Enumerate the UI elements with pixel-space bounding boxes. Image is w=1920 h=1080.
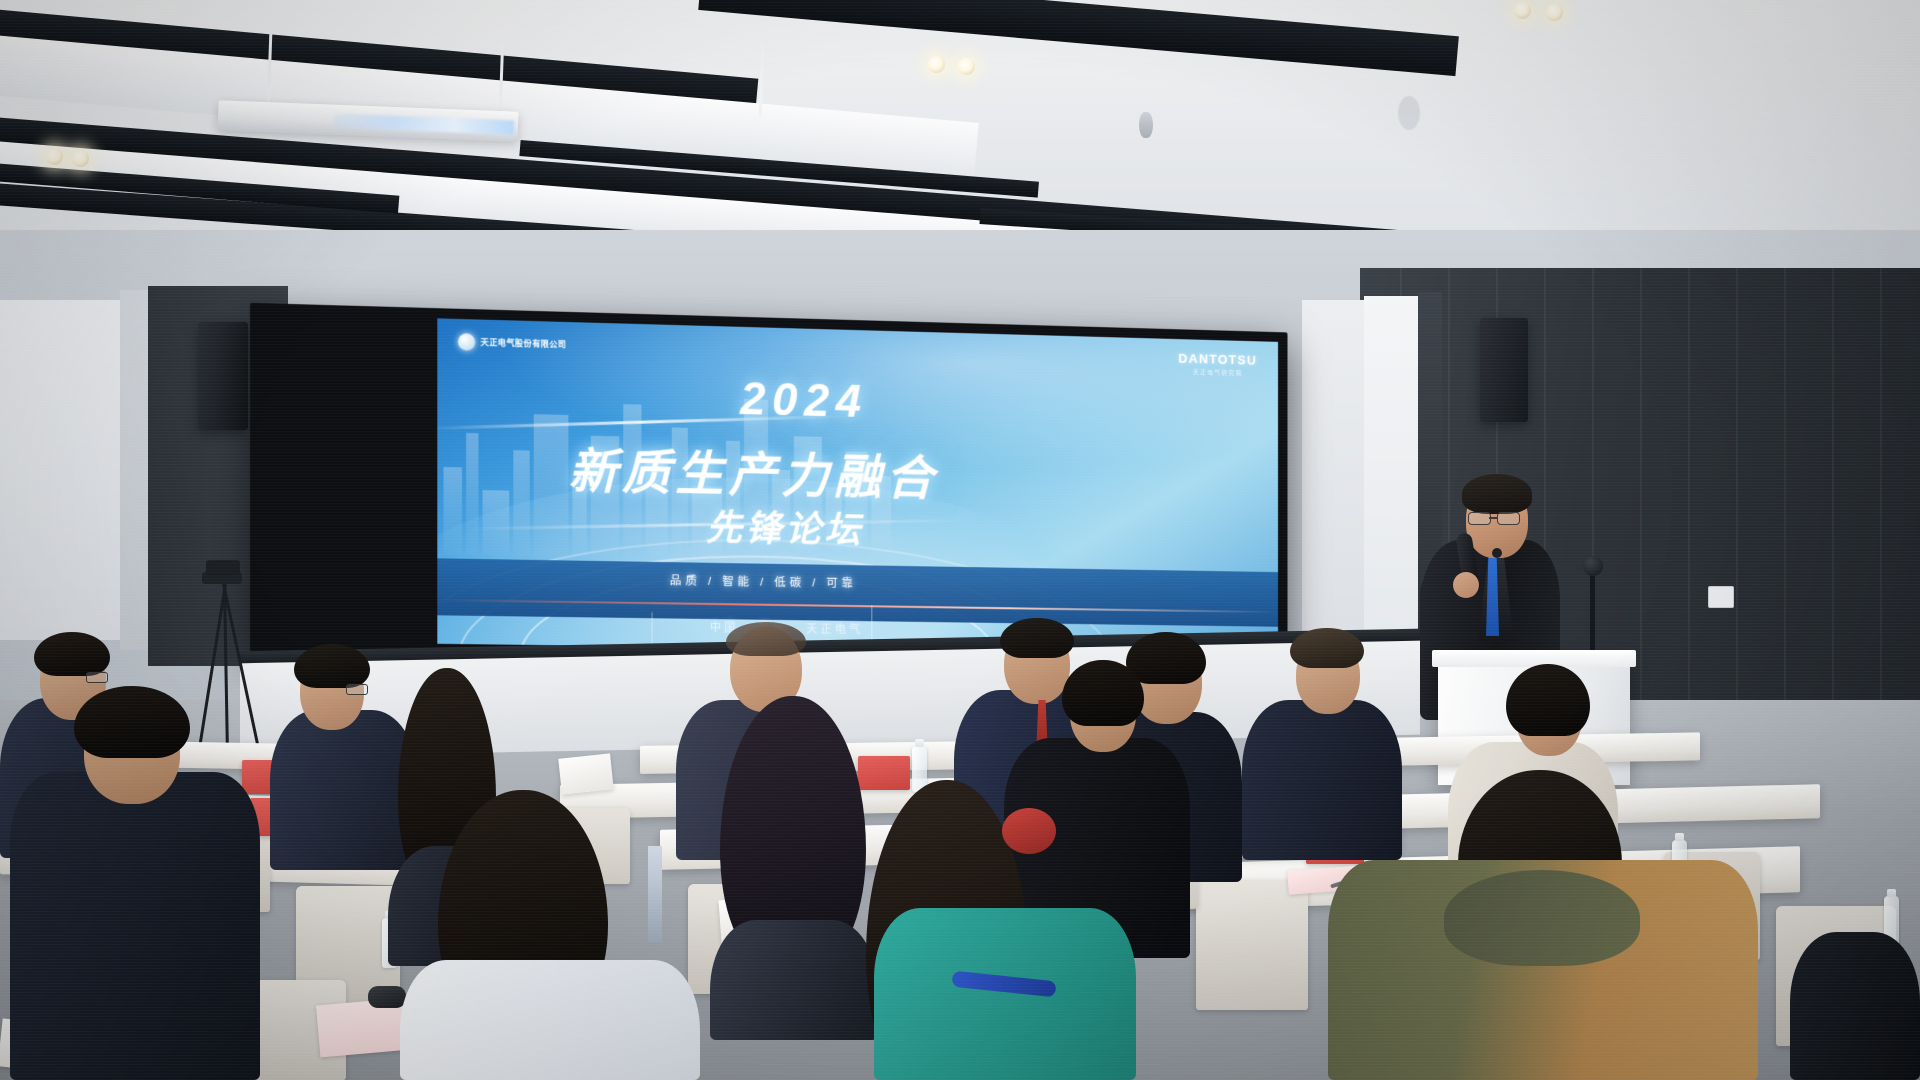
presenter-collar — [1492, 548, 1502, 558]
red-gift-bag — [858, 756, 910, 790]
ceiling-spotlight — [1514, 2, 1531, 19]
glasses-icon — [86, 672, 108, 683]
microphone-icon — [1583, 556, 1603, 576]
presenter-hair — [1462, 474, 1532, 514]
tent-card — [558, 753, 613, 794]
ceiling-spotlight — [958, 58, 975, 75]
glasses-bridge — [1489, 517, 1497, 519]
screen-title-line2: 先锋论坛 — [706, 499, 864, 554]
screen-logo-right-primary: DANTOTSU — [1178, 351, 1257, 368]
ceiling-spotlight — [72, 150, 89, 167]
company-mark-icon — [458, 333, 475, 351]
screen-logo-left-text: 天正电气股份有限公司 — [481, 337, 567, 350]
glasses-icon — [1468, 512, 1491, 525]
screen-title-line1: 新质生产力融合 — [568, 431, 937, 509]
led-screen-frame: 天正电气股份有限公司 DANTOTSU 天正电气研究院 2024 新质生产力融合… — [250, 303, 1287, 664]
floor-microphone-stand — [1590, 568, 1595, 660]
smoke-detector-icon — [1139, 112, 1153, 138]
screen-year: 2024 — [740, 371, 867, 428]
ceiling-spotlight — [928, 56, 945, 73]
glasses-icon — [1497, 512, 1520, 525]
screen-lower-band — [437, 558, 1278, 626]
pen-case — [368, 986, 406, 1008]
loudspeaker-right — [1480, 318, 1528, 422]
glasses-icon — [346, 684, 368, 695]
wall-outlet — [1708, 586, 1734, 608]
jacket-hood — [1444, 870, 1640, 966]
screen-keywords: 品质 / 智能 / 低碳 / 可靠 — [670, 572, 857, 591]
podium-top — [1432, 650, 1636, 667]
camera-body — [206, 560, 240, 576]
hair-scrunchie — [1002, 808, 1056, 854]
screen-logo-right: DANTOTSU 天正电气研究院 — [1178, 351, 1257, 378]
camera-tripod — [196, 572, 256, 752]
conference-photo-scene: 天正电气股份有限公司 DANTOTSU 天正电气研究院 2024 新质生产力融合… — [0, 0, 1920, 1080]
led-screen: 天正电气股份有限公司 DANTOTSU 天正电气研究院 2024 新质生产力融合… — [437, 318, 1278, 654]
ceiling-spotlight — [1546, 4, 1563, 21]
chair-back — [1196, 880, 1308, 1010]
wall-panel — [0, 300, 120, 640]
wall-panel — [120, 290, 150, 650]
ceiling-spotlight — [46, 148, 63, 165]
loudspeaker-left — [198, 322, 248, 430]
lanyard — [648, 846, 662, 942]
screen-logo-left: 天正电气股份有限公司 — [458, 333, 566, 353]
ceiling-vent — [1398, 96, 1420, 130]
presenter-hand — [1453, 572, 1479, 598]
